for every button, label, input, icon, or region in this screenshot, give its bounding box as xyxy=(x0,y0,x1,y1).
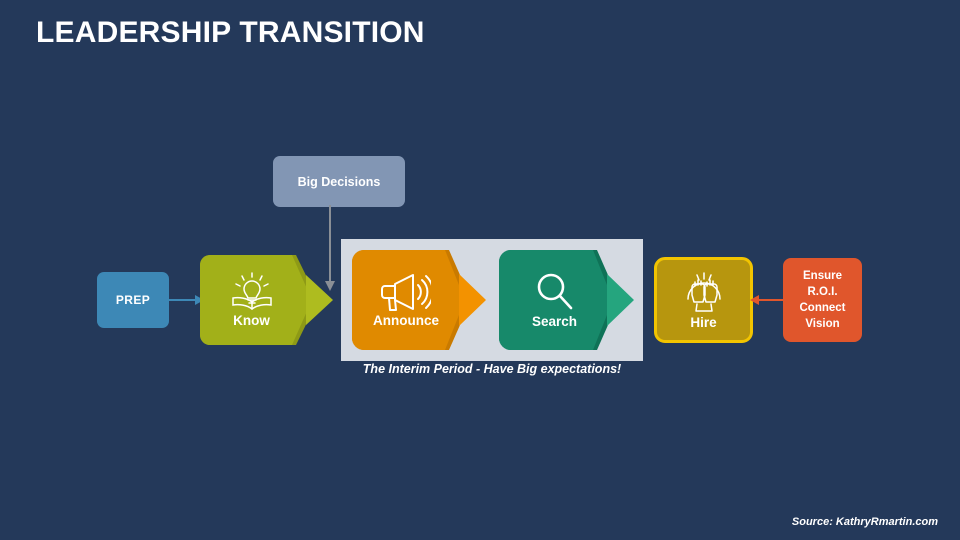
node-know[interactable]: Know xyxy=(200,255,333,345)
node-ensure-line-1: Ensure xyxy=(803,268,842,284)
node-ensure-line-4: Vision xyxy=(805,316,839,332)
page-title: LEADERSHIP TRANSITION xyxy=(36,16,425,50)
connector-prep-to-know xyxy=(168,292,204,308)
node-big-decisions[interactable]: Big Decisions xyxy=(273,156,405,207)
node-ensure-line-3: Connect xyxy=(800,300,846,316)
slide-canvas: LEADERSHIP TRANSITION PREP Big Decisions xyxy=(0,0,960,540)
node-search[interactable]: Search xyxy=(499,250,634,350)
connector-ensure-to-hire xyxy=(750,292,786,308)
node-hire[interactable]: Hire xyxy=(654,257,753,343)
interim-period-caption: The Interim Period - Have Big expectatio… xyxy=(341,362,643,376)
source-credit: Source: KathryRmartin.com xyxy=(792,516,938,528)
node-announce[interactable]: Announce xyxy=(352,250,486,350)
node-prep[interactable]: PREP xyxy=(97,272,169,328)
node-big-decisions-label: Big Decisions xyxy=(298,175,381,189)
node-hire-label: Hire xyxy=(690,315,716,330)
node-ensure-roi[interactable]: Ensure R.O.I. Connect Vision xyxy=(783,258,862,342)
node-prep-label: PREP xyxy=(116,293,150,307)
clapping-hands-icon xyxy=(682,271,726,313)
node-ensure-line-2: R.O.I. xyxy=(807,284,837,300)
